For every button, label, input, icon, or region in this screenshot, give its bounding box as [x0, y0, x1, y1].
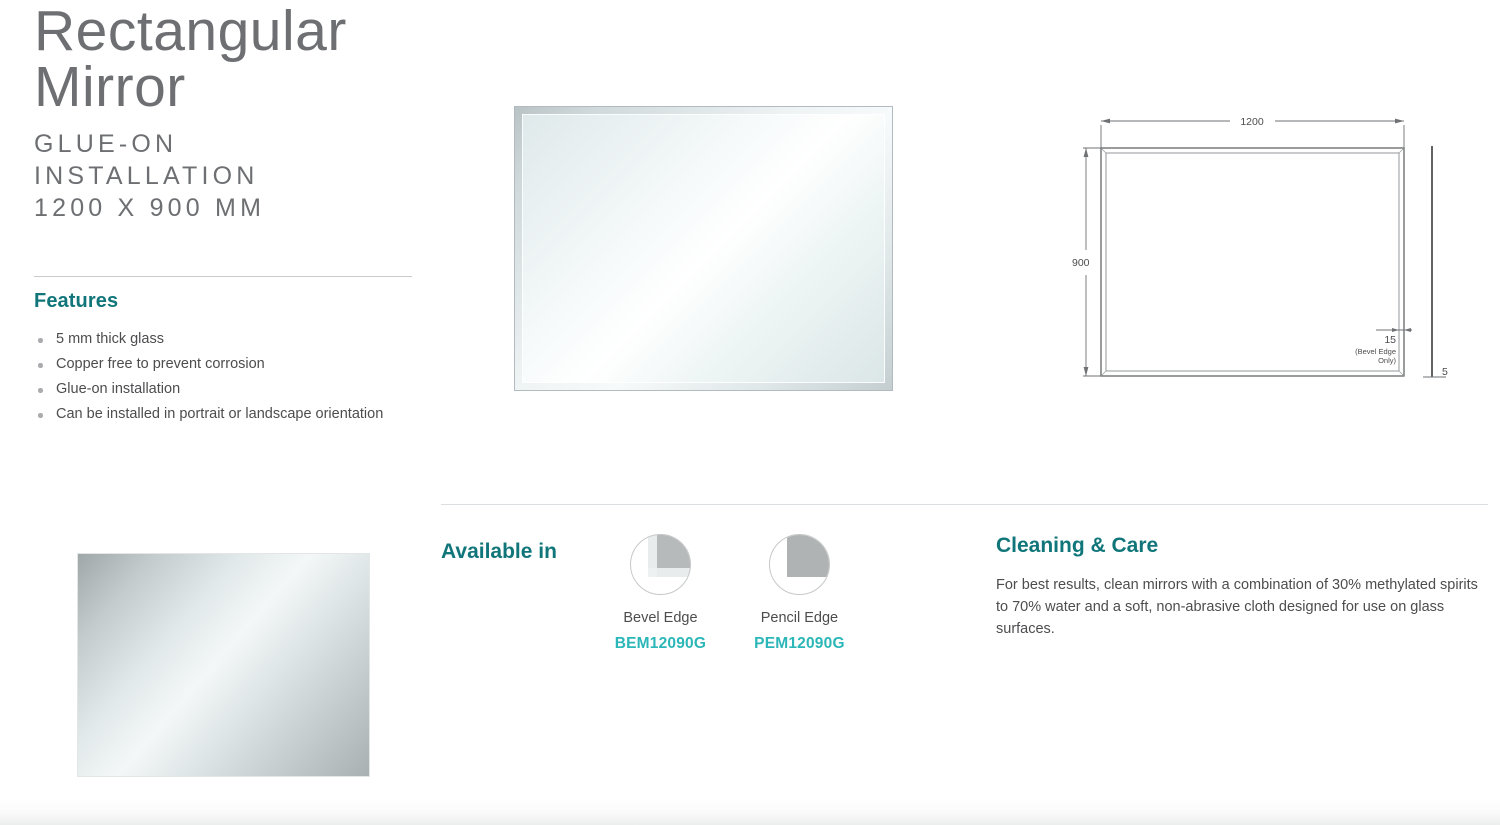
edge-option-bevel[interactable]: Bevel Edge BEM12090G: [591, 534, 730, 653]
hero-mirror-photo: [515, 107, 892, 390]
dimension-diagram: 1200 900 15 (Bevel Edge Only) 5: [1060, 100, 1470, 400]
cleaning-care-body: For best results, clean mirrors with a c…: [996, 574, 1491, 640]
pencil-edge-corner: [787, 535, 829, 577]
available-in-section: Available in Bevel Edge BEM12090G Pencil…: [441, 534, 869, 653]
available-in-heading: Available in: [441, 540, 557, 564]
drawing-thickness-label: 5: [1442, 366, 1448, 378]
edge-option-label: Pencil Edge: [730, 610, 869, 626]
edge-option-label: Bevel Edge: [591, 610, 730, 626]
edge-option-pencil[interactable]: Pencil Edge PEM12090G: [730, 534, 869, 653]
list-item: 5 mm thick glass: [34, 327, 434, 352]
edge-option-code: BEM12090G: [591, 635, 730, 653]
secondary-mirror-photo: [78, 554, 369, 776]
drawing-bevel-note-line1: (Bevel Edge: [1355, 347, 1396, 356]
list-item: Copper free to prevent corrosion: [34, 352, 434, 377]
page-title: Rectangular Mirror: [34, 4, 434, 116]
section-divider: [441, 504, 1488, 505]
product-title-block: Rectangular Mirror GLUE-ON INSTALLATION …: [34, 4, 434, 224]
cleaning-care-heading: Cleaning & Care: [996, 534, 1491, 558]
features-section: Features 5 mm thick glass Copper free to…: [34, 290, 434, 427]
pencil-edge-swatch: [769, 534, 830, 595]
bevel-edge-swatch: [630, 534, 691, 595]
spec-sheet-page: Rectangular Mirror GLUE-ON INSTALLATION …: [0, 0, 1500, 825]
list-item: Can be installed in portrait or landscap…: [34, 402, 434, 427]
features-heading: Features: [34, 290, 434, 313]
drawing-width-label: 1200: [1240, 116, 1264, 128]
features-list: 5 mm thick glass Copper free to prevent …: [34, 327, 434, 427]
edge-options-list: Bevel Edge BEM12090G Pencil Edge PEM1209…: [591, 534, 869, 653]
drawing-bevel-note-line2: Only): [1378, 356, 1396, 365]
page-bottom-edge: [0, 799, 1500, 825]
drawing-height-label: 900: [1072, 257, 1090, 269]
product-subtitle: GLUE-ON INSTALLATION 1200 x 900 MM: [34, 128, 434, 224]
cleaning-care-section: Cleaning & Care For best results, clean …: [996, 534, 1491, 640]
title-divider: [34, 276, 412, 277]
bevel-edge-chamfer-corner: [648, 568, 657, 577]
drawing-bevel-label: 15: [1384, 334, 1396, 346]
mirror-glass-surface: [522, 114, 885, 383]
list-item: Glue-on installation: [34, 377, 434, 402]
technical-drawing: 1200 900 15 (Bevel Edge Only) 5: [1060, 100, 1470, 400]
edge-option-code: PEM12090G: [730, 635, 869, 653]
